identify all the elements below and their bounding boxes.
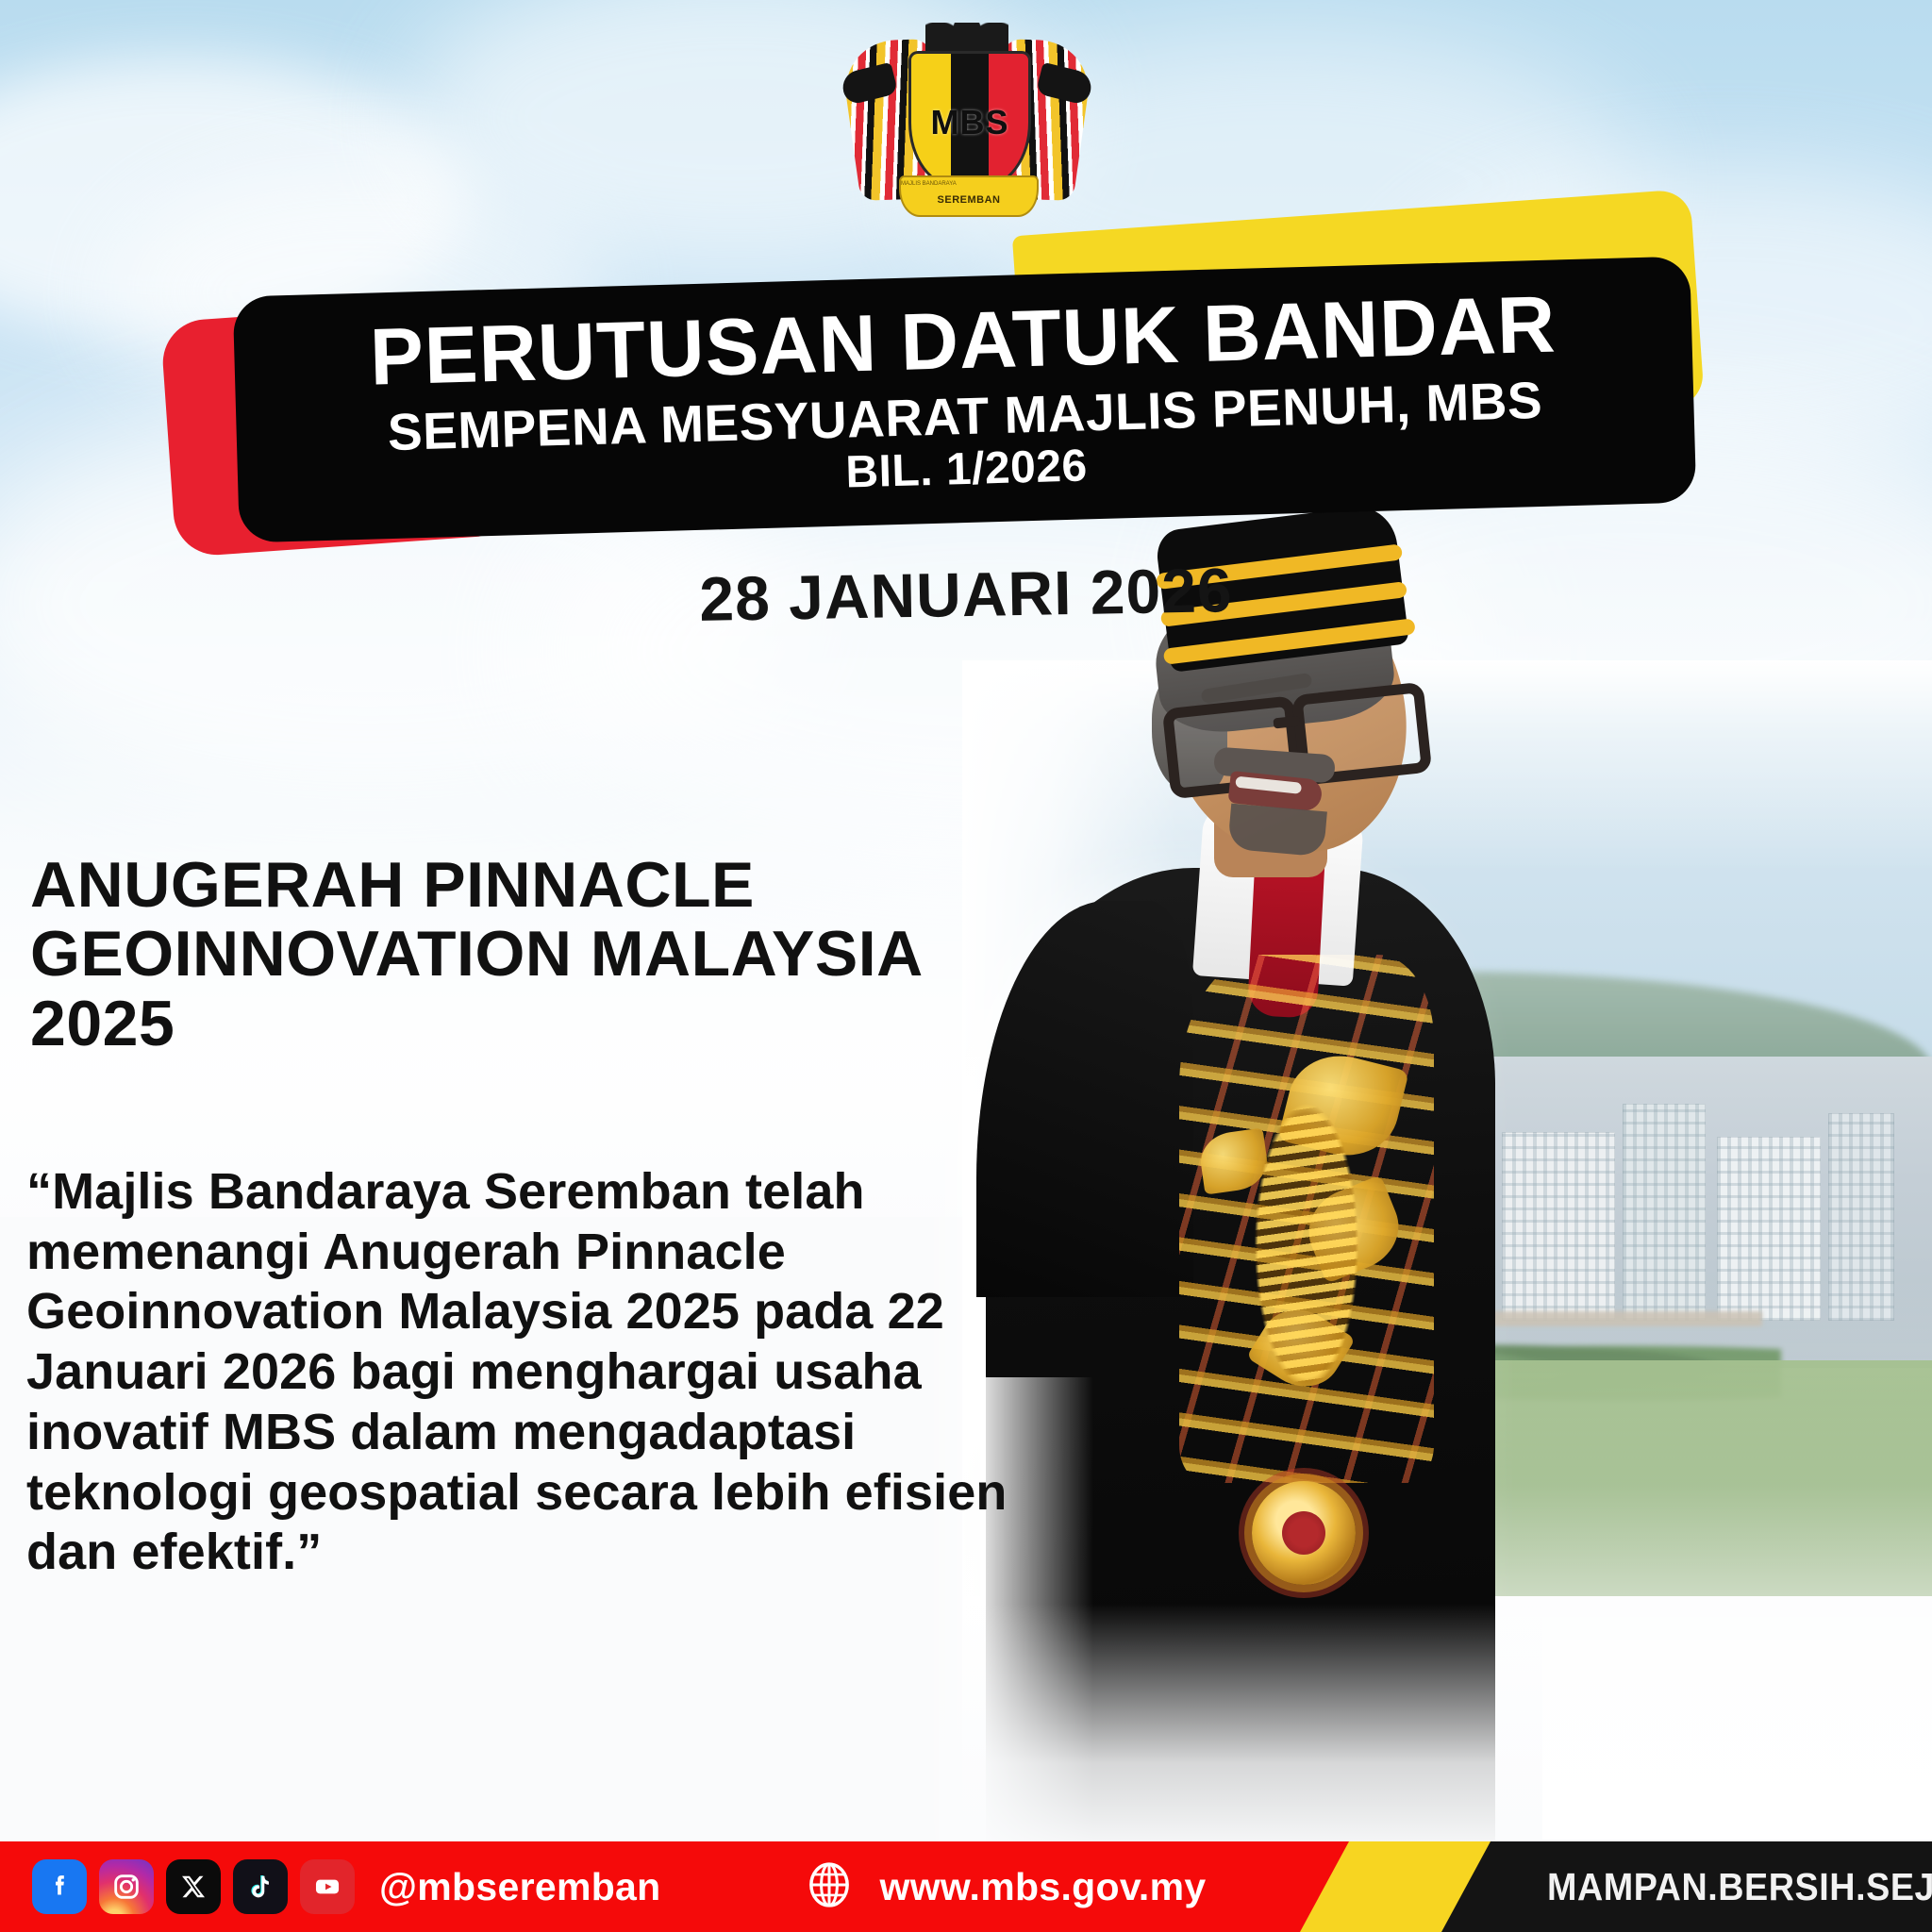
chain-of-office [1212,1000,1401,1491]
facebook-icon[interactable] [32,1859,87,1914]
social-icon-group [32,1859,355,1914]
globe-icon [803,1858,856,1916]
youtube-icon[interactable] [300,1859,355,1914]
portrait-fade [939,1519,1542,1858]
poster-canvas: MBS MAJLIS BANDARAYA SEREMBAN PERUTUSAN … [0,0,1932,1932]
mayor-portrait [976,528,1505,1849]
mbs-crest-logo: MBS MAJLIS BANDARAYA SEREMBAN [854,17,1080,215]
crest-shield: MBS [908,51,1031,189]
title-banner: PERUTUSAN DATUK BANDAR SEMPENA MESYUARAT… [233,256,1697,542]
robe-shoulder [976,901,1193,1297]
award-quote: “Majlis Bandaraya Seremban telah memenan… [26,1162,1008,1583]
award-heading: ANUGERAH PINNACLE GEOINNOVATION MALAYSIA… [30,851,936,1058]
footer-tagline: MAMPAN.BERSIH.SEJAHTERA [1547,1841,1932,1932]
tiktok-icon[interactable] [233,1859,288,1914]
social-handle[interactable]: @mbseremban [379,1865,661,1909]
website-url[interactable]: www.mbs.gov.my [880,1865,1207,1909]
title-line-3: BIL. 1/2026 [845,443,1089,498]
crest-banner-text: SEREMBAN [901,194,1037,206]
website-group[interactable]: www.mbs.gov.my [803,1858,1207,1916]
x-twitter-icon[interactable] [166,1859,221,1914]
crest-initials: MBS [911,103,1028,142]
footer-bar: @mbseremban www.mbs.gov.my MAMPAN.BERSIH… [0,1841,1932,1932]
crest-banner-subtext: MAJLIS BANDARAYA [901,181,1037,187]
instagram-icon[interactable] [99,1859,154,1914]
crest-banner: MAJLIS BANDARAYA SEREMBAN [899,175,1039,217]
